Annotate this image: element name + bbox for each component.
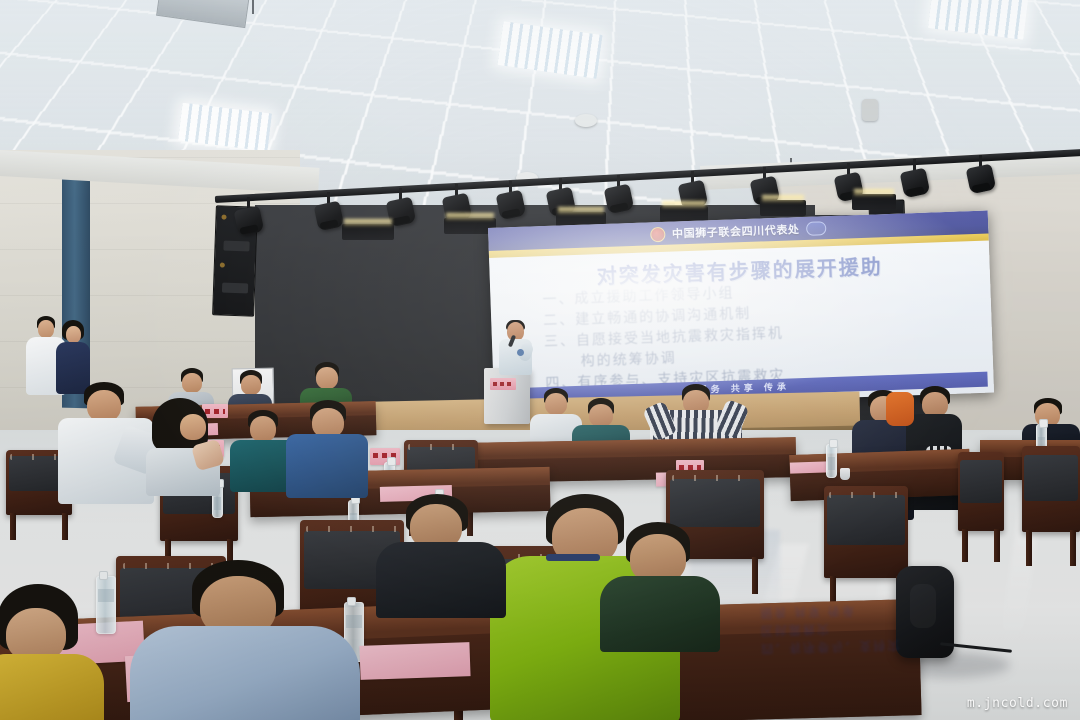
lions-club-emblem-icon: [650, 226, 666, 242]
chair-studs: [672, 475, 758, 481]
wooden-chair: [958, 452, 1004, 562]
stage-uplight: [760, 200, 806, 216]
head: [241, 375, 261, 395]
lanyard: [546, 554, 600, 561]
pink-placemat: [790, 461, 828, 473]
head: [250, 416, 276, 442]
chair-cushion: [670, 479, 760, 527]
torso: [286, 434, 368, 498]
watermark: m.jncold.com: [967, 696, 1068, 711]
seated-attendee-green-right: [600, 522, 720, 650]
reflected-text: 四、有序参与、支持灾区抗震救灾: [761, 618, 912, 658]
seated-attendee-blue-shirt: [286, 400, 368, 496]
chair-cushion: [1024, 455, 1077, 502]
head: [316, 367, 338, 389]
seated-attendee-blue-front: [130, 560, 360, 720]
stage-spotlight: [968, 164, 994, 194]
chair-cushion: [827, 495, 904, 545]
wooden-chair: [1022, 446, 1080, 566]
stage-uplight: [342, 224, 394, 240]
stage-uplight: [852, 194, 896, 210]
podium-name-card: [490, 378, 516, 390]
seated-attendee-yellow-corner: [0, 584, 104, 720]
floor-slide-reflection: 四、有序参与、支持灾区抗震救灾 服务 共享 传承: [759, 544, 912, 658]
stage-spotlight: [498, 190, 524, 220]
pink-placemat: [359, 642, 470, 680]
seated-attendee-white-shirt: [58, 382, 154, 502]
presenter-logo: [517, 349, 524, 356]
chair-leg: [62, 513, 68, 540]
chair-leg: [10, 513, 16, 540]
chair-back: [958, 452, 1004, 531]
projected-slide: 中国狮子联会四川代表处 对突发灾害有步骤的展开援助 一、成立援助工作领导小组 二…: [488, 211, 994, 410]
conference-hall-photo: 中国狮子联会四川代表处 对突发灾害有步骤的展开援助 一、成立援助工作领导小组 二…: [0, 0, 1080, 720]
chair-leg: [1070, 530, 1076, 566]
head: [66, 326, 81, 343]
banner-title: 中国狮子联会四川代表处: [672, 221, 800, 241]
chair-leg: [752, 557, 758, 594]
ceiling-smoke-detector: [575, 114, 597, 127]
stage-spotlight: [606, 184, 632, 214]
presenter: [496, 322, 534, 374]
torso: [0, 654, 104, 720]
torso: [600, 576, 720, 652]
chair-studs: [829, 492, 903, 498]
chair-leg: [1026, 530, 1032, 566]
secondary-logo-icon: [806, 221, 826, 236]
stage-spotlight: [316, 201, 342, 231]
stage-spotlight: [236, 206, 262, 236]
ceiling-smoke-detector: [862, 99, 878, 121]
seated-attendee: [886, 392, 914, 426]
head: [589, 404, 613, 427]
torso: [376, 542, 506, 618]
torso: [886, 392, 914, 426]
chair-cushion: [960, 460, 1002, 503]
head: [182, 373, 202, 393]
head: [180, 414, 206, 440]
stage-spotlight: [902, 168, 928, 198]
seated-attendee-longhair: [146, 398, 220, 494]
head: [545, 393, 567, 415]
head: [38, 320, 54, 338]
chair-leg: [962, 529, 968, 562]
chair-leg: [994, 529, 1000, 562]
podium: [484, 368, 530, 424]
ceiling-hanger-rod: [252, 0, 254, 14]
torso: [130, 626, 360, 720]
water-bottle: [826, 444, 837, 478]
projection-screen: 中国狮子联会四川代表处 对突发灾害有步骤的展开援助 一、成立援助工作领导小组 二…: [488, 211, 994, 410]
seated-attendee-dark: [376, 494, 506, 614]
cup: [840, 468, 850, 480]
chair-studs: [408, 444, 473, 450]
chair-back: [1022, 446, 1080, 532]
